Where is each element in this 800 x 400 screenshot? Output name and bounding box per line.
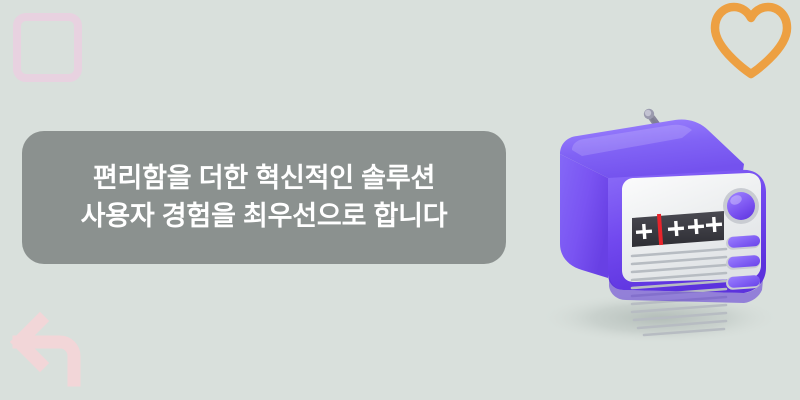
radio-knob (723, 188, 759, 224)
headline-line-1: 편리함을 더한 혁신적인 솔루션 (93, 160, 435, 197)
banner-canvas: 편리함을 더한 혁신적인 솔루션 사용자 경험을 최우선으로 합니다 (0, 0, 800, 400)
radio-preset-button (726, 255, 761, 270)
return-arrow-icon (8, 312, 108, 392)
radio-preset-buttons (726, 235, 761, 290)
rounded-square-outline-icon (13, 13, 82, 82)
radio-illustration (520, 28, 800, 348)
radio-preset-button (726, 275, 761, 290)
headline-plate: 편리함을 더한 혁신적인 솔루션 사용자 경험을 최우선으로 합니다 (22, 131, 506, 264)
headline-line-2: 사용자 경험을 최우선으로 합니다 (81, 198, 448, 235)
radio-preset-button (726, 235, 761, 250)
